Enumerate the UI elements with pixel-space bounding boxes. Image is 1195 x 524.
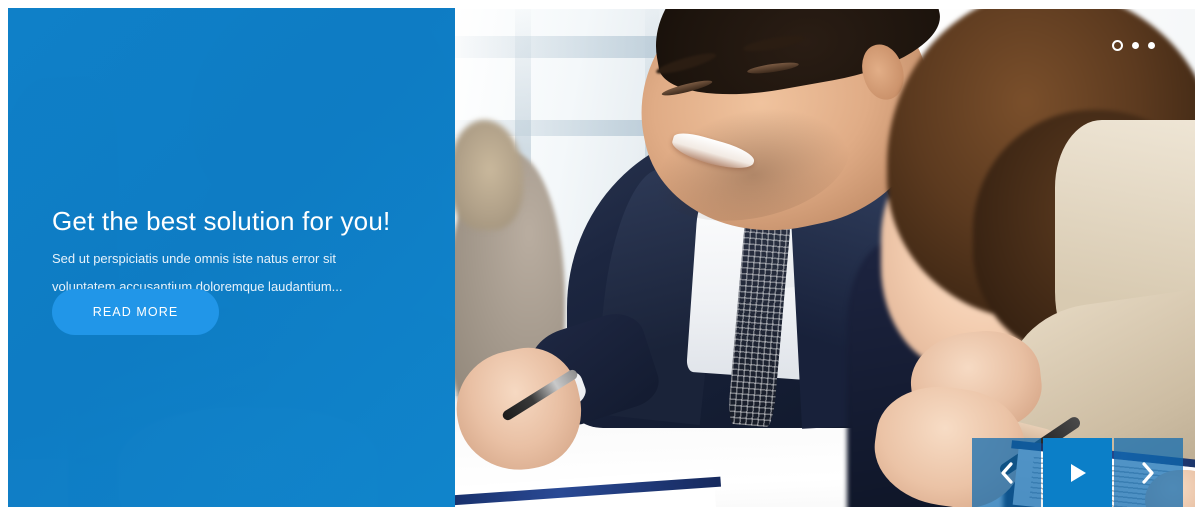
- chevron-right-icon: [1140, 461, 1157, 485]
- play-slideshow-button[interactable]: [1043, 438, 1112, 507]
- chevron-left-icon: [998, 461, 1015, 485]
- slide-text-panel: Get the best solution for you! Sed ut pe…: [8, 8, 455, 507]
- pagination-dot-1[interactable]: [1112, 40, 1123, 51]
- prev-slide-button[interactable]: [972, 438, 1041, 507]
- slide-text-content: Get the best solution for you! Sed ut pe…: [52, 8, 452, 507]
- next-slide-button[interactable]: [1114, 438, 1183, 507]
- page-title: Get the best solution for you!: [52, 205, 452, 237]
- hero-subtitle-line-1: Sed ut perspiciatis unde omnis iste natu…: [52, 251, 336, 266]
- play-icon: [1068, 462, 1088, 484]
- pagination-dot-3[interactable]: [1148, 42, 1155, 49]
- photo-top-white-strip: [455, 0, 1195, 9]
- slide-photo: [455, 0, 1195, 507]
- hero-slider: Get the best solution for you! Sed ut pe…: [0, 0, 1195, 524]
- slider-pagination: [1112, 40, 1155, 51]
- pagination-dot-2[interactable]: [1132, 42, 1139, 49]
- slider-controls: [972, 438, 1183, 507]
- read-more-button[interactable]: READ MORE: [52, 289, 219, 335]
